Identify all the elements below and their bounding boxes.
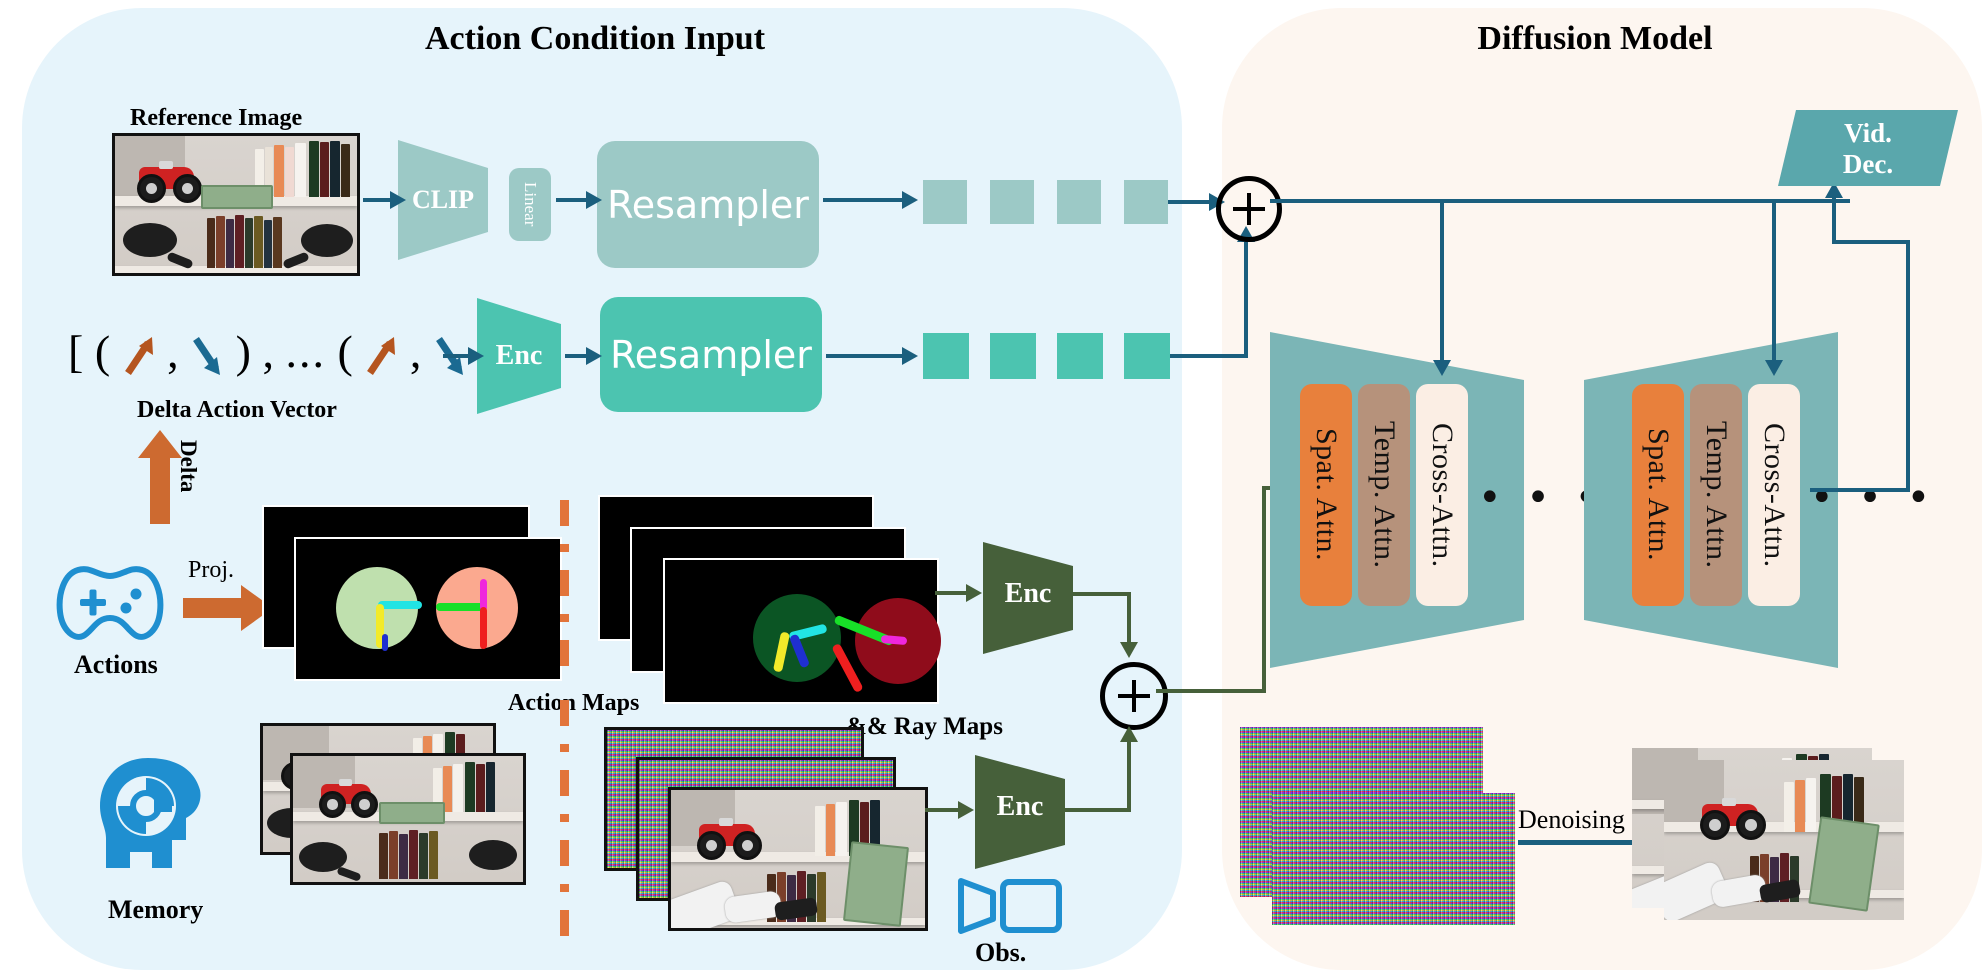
delta-arrow-up-right-1 <box>122 333 156 377</box>
delta-arrow-up-right-2 <box>364 333 398 377</box>
proj-arrow-icon <box>183 585 273 631</box>
cross-attn-label-2: Cross-Attn. <box>1757 423 1791 568</box>
obs-green-book <box>843 841 909 927</box>
dav-comma-2: , <box>262 326 274 377</box>
arrow-resampler-action-tokens-line <box>826 354 906 358</box>
memory-label: Memory <box>108 895 203 925</box>
arrow-linear-to-resampler-head <box>586 191 602 209</box>
denoise-output-front <box>1664 760 1904 920</box>
dashed-separator-bottom <box>560 700 569 940</box>
arrow-resampler-to-tokens-head <box>902 191 918 209</box>
dav-bracket-open: [ <box>68 326 83 377</box>
memory-head-icon <box>96 756 206 874</box>
memory-photo-front <box>290 753 526 885</box>
enc-ray-label: Enc <box>983 578 1073 610</box>
camera-icon <box>955 875 1065 937</box>
arrow-ref-to-clip-line <box>363 198 393 202</box>
arrow-resampler-to-tokens-line <box>823 198 905 202</box>
arrow-obs-to-enc-head <box>958 801 974 819</box>
arrow-ref-to-clip-head <box>390 191 406 209</box>
dav-paren-open-1: ( <box>95 326 110 377</box>
spat-attn-block-1: Spat. Attn. <box>1300 384 1352 606</box>
arrow-raymap-to-enc-line <box>935 591 969 595</box>
unet-decoder-ellipsis: • • • <box>1810 478 1936 518</box>
vid-dec-line2: Dec. <box>1778 149 1958 180</box>
arrow-raymap-to-enc-head <box>966 584 982 602</box>
cond-drop-encoder <box>1440 199 1444 365</box>
arrow-dav-to-enc-line <box>443 354 471 358</box>
action-map-frame-front <box>294 537 562 681</box>
video-decoder-label: Vid. Dec. <box>1778 118 1958 180</box>
arrow-enc-to-resampler-head <box>586 347 602 365</box>
image-token-1 <box>923 180 967 224</box>
vid-dec-line1: Vid. <box>1778 118 1958 149</box>
denoise-output-green-book <box>1808 816 1880 911</box>
cross-attn-block-2: Cross-Attn. <box>1748 384 1800 606</box>
delta-action-vector-expression: [ ( , ) , ... ( , )] <box>68 325 458 387</box>
left-panel-title: Action Condition Input <box>360 20 830 58</box>
image-token-2 <box>990 180 1034 224</box>
arrow-dav-to-enc-head <box>468 347 484 365</box>
action-tokens-elbow-v <box>1244 240 1248 358</box>
delta-action-vector-caption: Delta Action Vector <box>137 397 337 424</box>
enc-obs-elbow-h <box>1060 808 1131 812</box>
resampler-image-label: Resampler <box>607 183 809 227</box>
vid-dec-feed-h <box>1832 240 1910 244</box>
spat-attn-block-2: Spat. Attn. <box>1632 384 1684 606</box>
spat-attn-label-1: Spat. Attn. <box>1309 428 1343 561</box>
denoise-input-front <box>1272 793 1515 925</box>
gamepad-icon <box>50 560 170 645</box>
resampler-action-block: Resampler <box>600 297 822 412</box>
action-map-right-red-stick <box>480 607 487 649</box>
linear-label: Linear <box>520 182 540 226</box>
action-map-left-cyan-stick <box>378 601 422 609</box>
actions-label: Actions <box>74 650 158 680</box>
temp-attn-label-2: Temp. Attn. <box>1699 421 1733 569</box>
arrow-tokens-to-sum-line <box>1168 200 1212 204</box>
action-token-2 <box>990 333 1036 379</box>
plus-operator-bottom <box>1100 662 1168 730</box>
enc-ray-elbow-head <box>1120 642 1138 658</box>
dec-out-v <box>1906 240 1910 490</box>
enc-ray-elbow-v <box>1127 592 1131 644</box>
temp-attn-block-1: Temp. Attn. <box>1358 384 1410 606</box>
enc-ray-elbow-h <box>1065 592 1131 596</box>
dav-paren-open-2: ( <box>337 326 352 377</box>
action-maps-label: Action Maps <box>508 690 639 717</box>
action-token-1 <box>923 333 969 379</box>
obs-photo-front <box>668 787 928 931</box>
plus-operator-top <box>1216 176 1282 242</box>
action-token-4 <box>1124 333 1170 379</box>
cond-drop-decoder <box>1772 199 1776 365</box>
diagram-root: Action Condition Input Diffusion Model R… <box>0 0 1988 980</box>
linear-block: Linear <box>509 168 551 241</box>
cross-attn-block-1: Cross-Attn. <box>1416 384 1468 606</box>
delta-arrow-down-right-1 <box>190 333 224 377</box>
clip-label: CLIP <box>398 185 488 215</box>
image-token-4 <box>1124 180 1168 224</box>
spat-attn-label-2: Spat. Attn. <box>1641 428 1675 561</box>
arrow-resampler-action-tokens-head <box>902 347 918 365</box>
right-panel-title: Diffusion Model <box>1360 20 1830 58</box>
dav-ellipsis: ... <box>285 326 326 377</box>
arrow-obs-to-enc-line <box>925 808 961 812</box>
dav-comma-1: , <box>167 326 179 377</box>
action-tokens-elbow-h <box>1170 354 1248 358</box>
action-token-3 <box>1057 333 1103 379</box>
cond-bus-horizontal <box>1270 199 1850 203</box>
enc-obs-elbow-head <box>1120 726 1138 742</box>
image-token-3 <box>1057 180 1101 224</box>
reference-image-photo <box>112 133 360 276</box>
action-map-right-green-stick <box>436 603 484 611</box>
ray-map-frame-front <box>663 558 939 704</box>
cond-drop-decoder-head <box>1765 360 1783 376</box>
enc-obs-label: Enc <box>975 791 1065 823</box>
enc-action-label: Enc <box>477 340 561 372</box>
dashed-separator-top <box>560 500 569 680</box>
action-map-left-blue-stick <box>382 634 388 651</box>
cond-drop-encoder-head <box>1433 360 1451 376</box>
denoising-label: Denoising <box>1518 805 1625 835</box>
resampler-action-label: Resampler <box>610 333 812 377</box>
proj-label: Proj. <box>188 557 234 584</box>
dav-paren-close-1: ) <box>236 326 251 377</box>
enc-obs-elbow-v <box>1127 740 1131 810</box>
temp-attn-block-2: Temp. Attn. <box>1690 384 1742 606</box>
arrow-linear-to-resampler-line <box>556 198 589 202</box>
delta-arrow-label: Delta <box>175 440 201 492</box>
reference-image-label: Reference Image <box>130 105 302 132</box>
vid-dec-feed-up <box>1832 198 1836 242</box>
cross-attn-label-1: Cross-Attn. <box>1425 423 1459 568</box>
dav-comma-3: , <box>410 326 422 377</box>
dec-out-h <box>1810 488 1910 492</box>
temp-attn-label-1: Temp. Attn. <box>1367 421 1401 569</box>
ray-maps-label: && Ray Maps <box>846 713 1003 741</box>
plus-to-unet-h1 <box>1156 689 1266 693</box>
resampler-image-block: Resampler <box>597 141 819 268</box>
obs-label: Obs. <box>975 938 1026 968</box>
